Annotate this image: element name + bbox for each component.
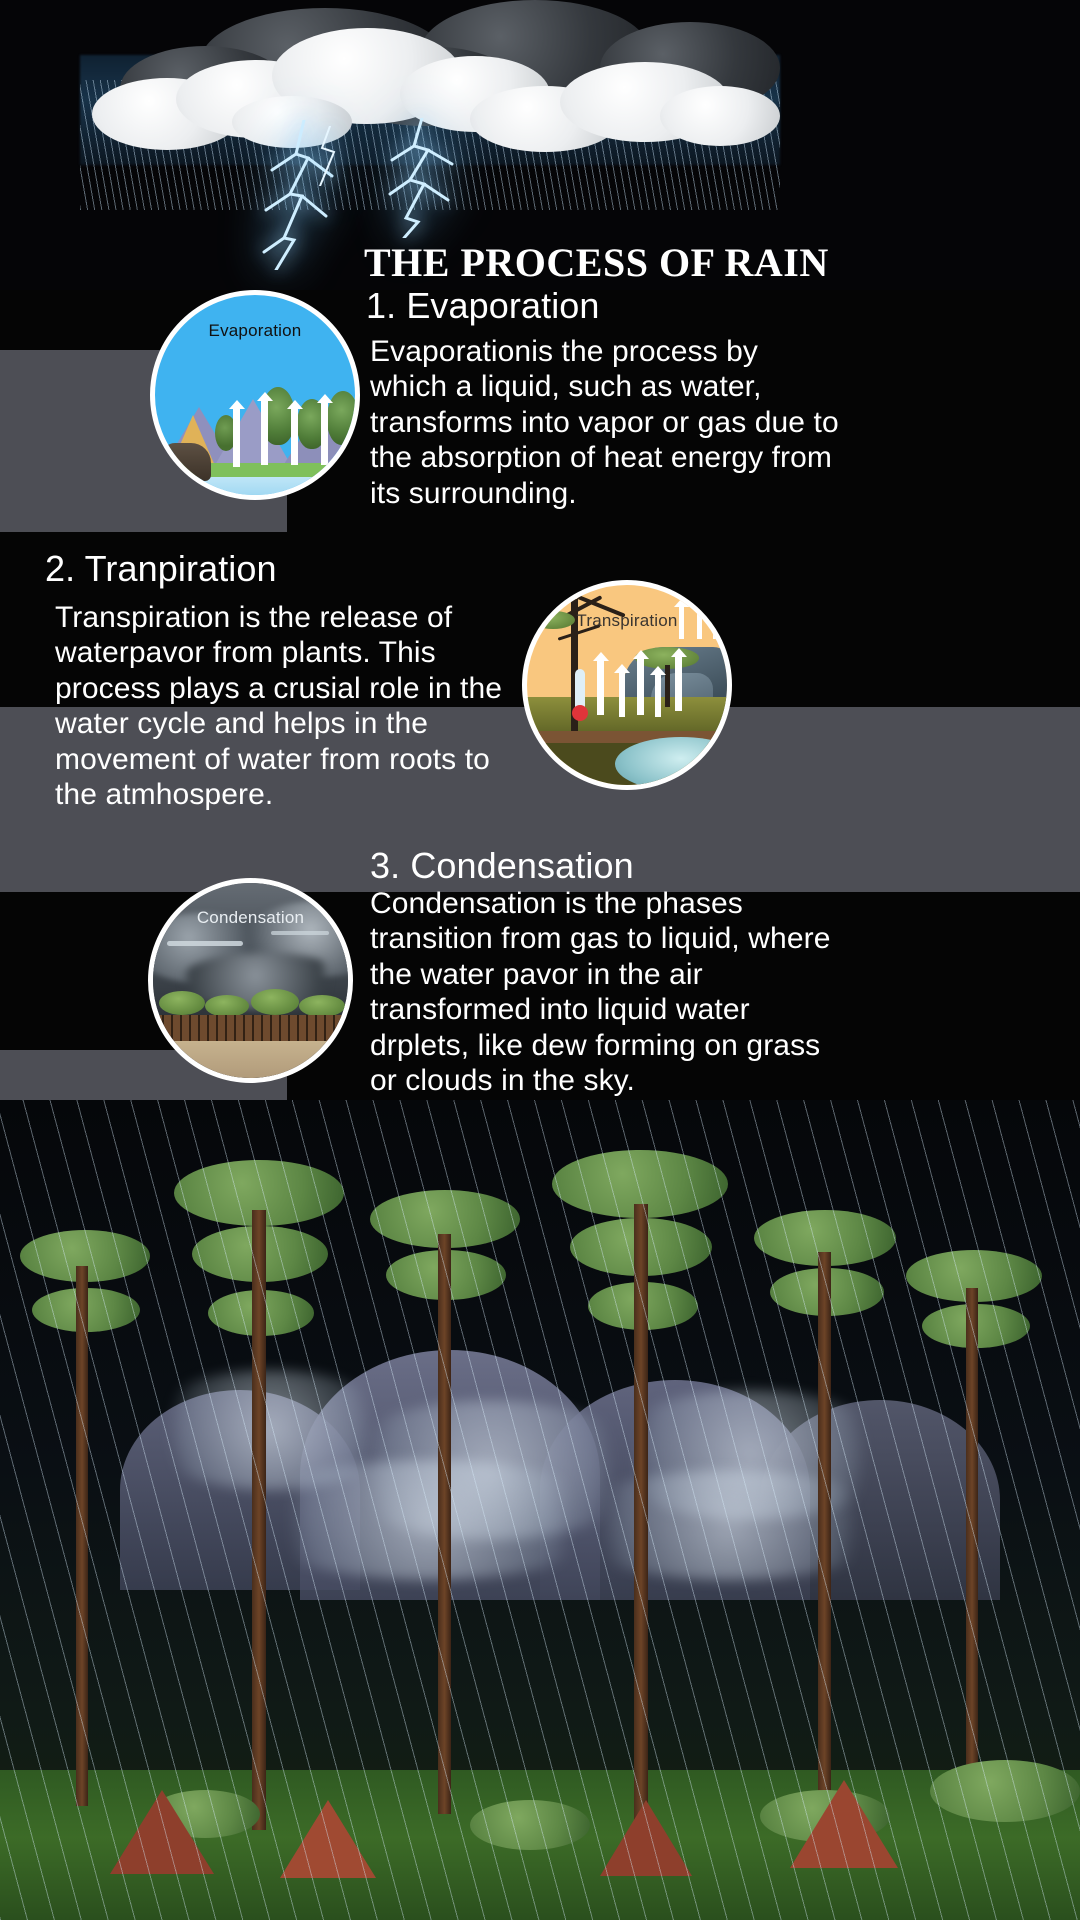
vapor-arrow-icon [619, 671, 625, 717]
illustration-evaporation: Evaporation [150, 290, 360, 500]
tent-shape [110, 1790, 214, 1874]
page-title: THE PROCESS OF RAIN [364, 239, 1064, 286]
forest-scene-bottom [0, 1100, 1080, 1920]
tree-trunk [438, 1234, 451, 1814]
vapor-arrow-icon [291, 407, 298, 465]
tree-shape [299, 995, 345, 1017]
shrub-shape [930, 1760, 1080, 1822]
vapor-arrow-icon [233, 407, 240, 467]
lightning-bolt-icon [300, 126, 360, 186]
tent-shape [600, 1800, 692, 1876]
section-body-transpiration: Transpiration is the release of waterpav… [55, 600, 525, 812]
tree-shape [159, 991, 205, 1015]
hill-strip [527, 697, 727, 735]
section-body-evaporation: Evaporationis the process by which a liq… [370, 334, 840, 511]
thermometer-bulb-icon [572, 705, 588, 721]
tree-trunk [966, 1288, 978, 1808]
illustration-condensation: Condensation [148, 878, 353, 1083]
section-heading-transpiration: 2. Tranpiration [45, 548, 277, 590]
tree-trunk [252, 1210, 266, 1830]
vapor-arrow-icon [637, 657, 644, 715]
tree-trunk [818, 1252, 831, 1822]
illustration-transpiration: Transpiration [522, 580, 732, 790]
storm-cloud-light [660, 86, 780, 146]
vapor-arrow-icon [261, 399, 268, 465]
section-body-condensation: Condensation is the phases transition fr… [370, 886, 850, 1098]
vapor-arrow-icon [597, 659, 604, 715]
tent-shape [280, 1800, 376, 1878]
vapor-arrow-icon [321, 401, 328, 465]
mist-cloud [560, 1470, 900, 1580]
cloud-streak [167, 941, 243, 946]
illustration-label-transpiration: Transpiration [527, 611, 727, 631]
tree-shape [205, 995, 249, 1017]
sand-strip [153, 1041, 348, 1083]
tree-trunk [634, 1204, 648, 1834]
lightning-bolt-icon [378, 118, 488, 238]
section-heading-condensation: 3. Condensation [370, 845, 634, 887]
tree-shape [251, 989, 299, 1015]
illustration-label-evaporation: Evaporation [155, 321, 355, 341]
cloud-streak [271, 931, 329, 935]
vapor-arrow-icon [655, 673, 661, 717]
illustration-label-condensation: Condensation [153, 908, 348, 928]
vapor-arrow-icon [675, 655, 682, 711]
pond-shape [615, 737, 732, 790]
tent-shape [790, 1780, 898, 1868]
fence-rails [153, 1015, 348, 1041]
tree-trunk [76, 1266, 88, 1806]
shrub-shape [470, 1800, 590, 1850]
rock-shape [161, 443, 211, 481]
section-heading-evaporation: 1. Evaporation [366, 285, 600, 327]
